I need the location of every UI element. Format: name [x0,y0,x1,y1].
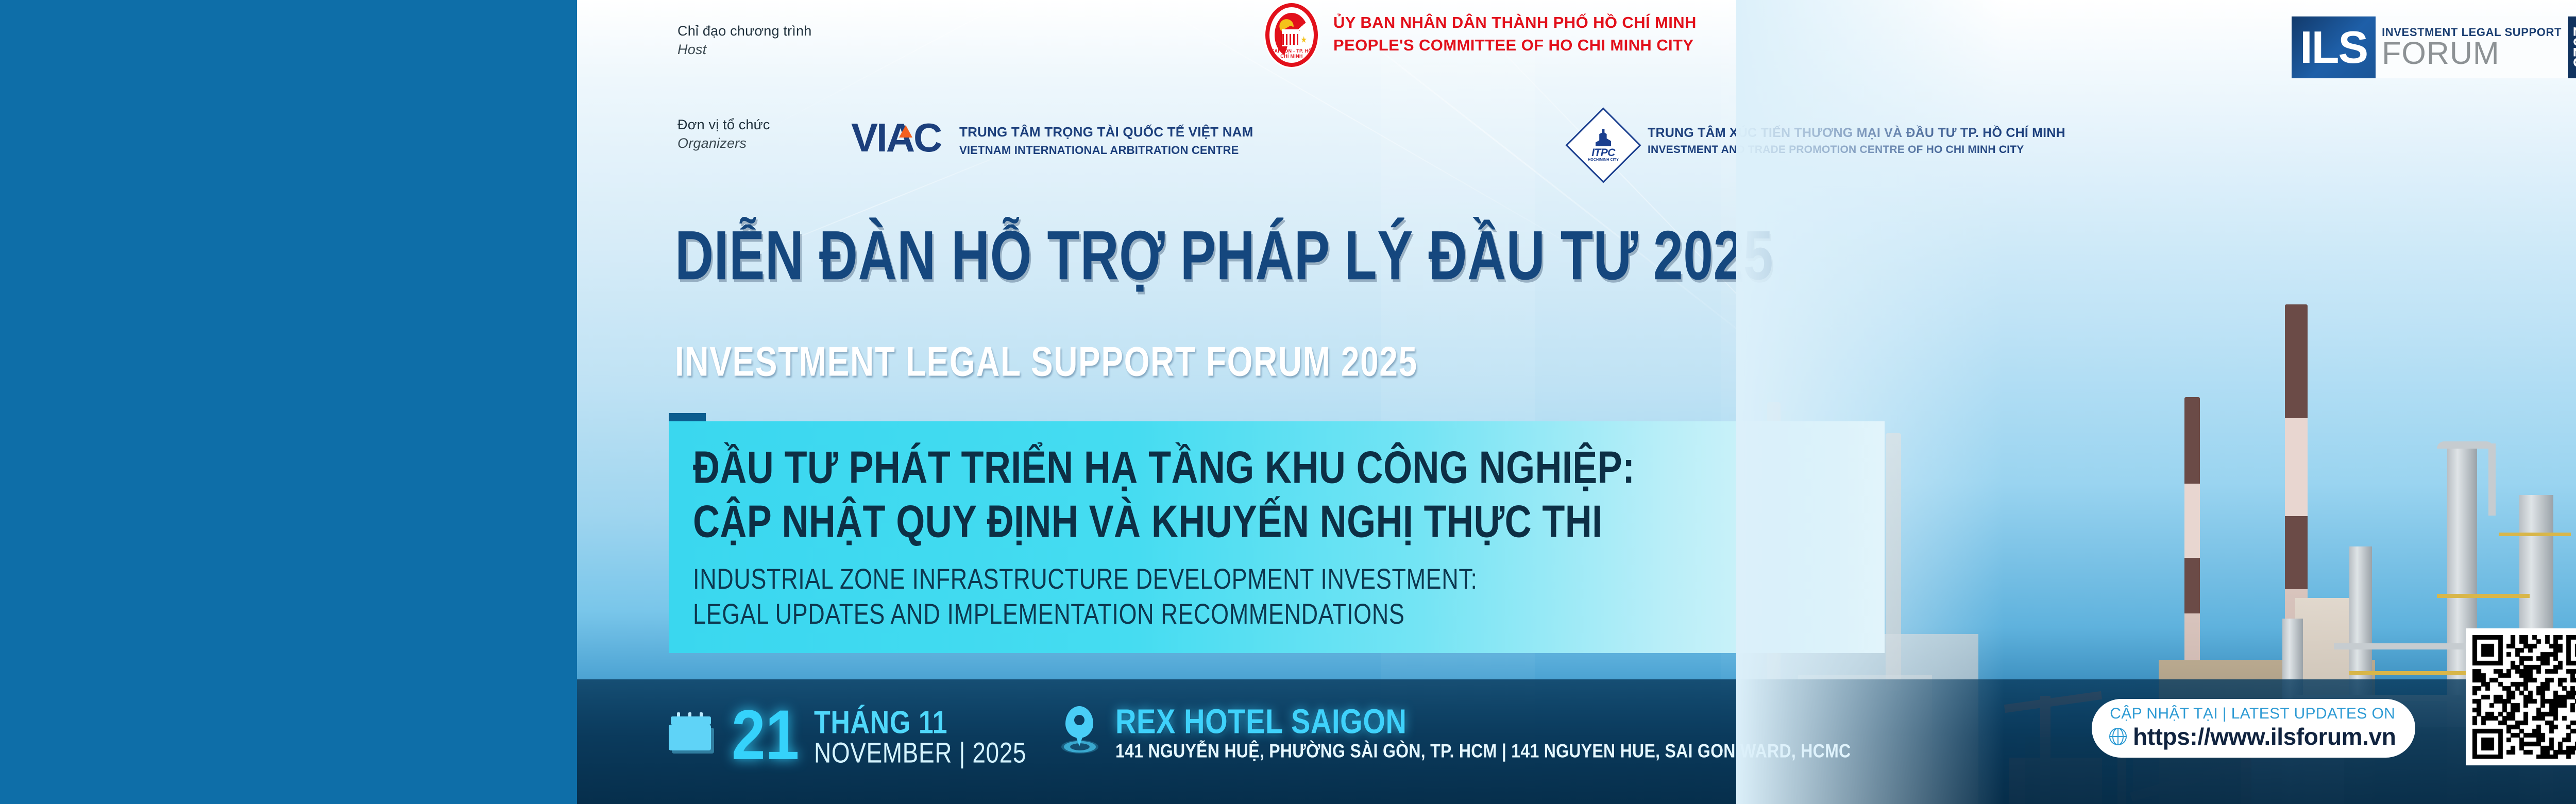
itpc-logo-sub: HOCHIMINH CITY [1588,158,1619,162]
updates-url[interactable]: https://www.ilsforum.vn [2133,723,2396,750]
refinery-platform [2437,594,2530,598]
refinery-platform [2349,671,2483,675]
event-footer: 21 THÁNG 11 NOVEMBER | 2025 REX HOTEL SA… [577,679,2576,804]
viac-name-vn: TRUNG TÂM TRỌNG TÀI QUỐC TẾ VIỆT NAM [959,123,1253,142]
event-month-en-year: NOVEMBER | 2025 [814,736,1026,769]
event-day: 21 [732,700,799,771]
updates-pill[interactable]: CẬP NHẬT TẠI | LATEST UPDATES ON https:/… [2092,699,2415,758]
host-label: Chỉ đạo chương trình Host [677,22,811,59]
ils-forum-word: FORUM [2382,39,2562,69]
host-org-en: PEOPLE'S COMMITTEE OF HO CHI MINH CITY [1333,34,1697,57]
organizers-label-vn-text: Đơn vị tổ chức [677,117,770,132]
ils-year: 2025 [2568,16,2576,78]
globe-icon [2109,728,2127,745]
page-title-vn: DIỄN ĐÀN HỖ TRỢ PHÁP LÝ ĐẦU TƯ 2025 [675,216,1773,296]
ils-forum-logo: ILS INVESTMENT LEGAL SUPPORT FORUM 2025 [2292,16,2576,78]
subtitle-en-line1: INDUSTRIAL ZONE INFRASTRUCTURE DEVELOPME… [693,562,1478,595]
subtitle-vn-line1: ĐẦU TƯ PHÁT TRIỂN HẠ TẦNG KHU CÔNG NGHIỆ… [693,442,1635,493]
hcmc-emblem: SAI GON - TP. HỒ CHÍ MINH [1265,3,1318,67]
page-title-en: INVESTMENT LEGAL SUPPORT FORUM 2025 [675,337,1418,385]
itpc-logo-text: ITPC [1591,147,1615,158]
updates-label: CẬP NHẬT TẠI | LATEST UPDATES ON [2109,705,2396,723]
viac-logo: VIAC [851,117,941,158]
venue-name: REX HOTEL SAIGON [1115,701,1407,741]
location-pin-icon [1061,706,1098,754]
itpc-logo: ITPC HOCHIMINH CITY [1577,118,1630,172]
subtitle-vn-line2: CẬP NHẬT QUY ĐỊNH VÀ KHUYẾN NGHỊ THỰC TH… [693,496,1603,548]
ils-mark: ILS [2292,16,2376,78]
refinery-platform [2499,533,2571,536]
banner-poster: Chỉ đạo chương trình Host SAI GON - TP. … [0,0,2576,804]
host-organization: ỦY BAN NHÂN DÂN THÀNH PHỐ HỒ CHÍ MINH PE… [1333,11,1697,57]
viac-logo-text: VIAC [851,115,941,160]
organizers-label: VIAC Đơn vị tổ chức Organizers [677,116,770,152]
refinery-pipe [2437,441,2494,449]
calendar-icon [669,711,713,752]
host-label-en: Host [677,41,811,59]
viac-name-en: VIETNAM INTERNATIONAL ARBITRATION CENTRE [959,142,1253,159]
photo-left-fade [1736,0,2004,804]
qr-code[interactable] [2466,628,2576,765]
host-label-vn: Chỉ đạo chương trình [677,23,811,39]
left-color-band [0,0,577,804]
viac-name: TRUNG TÂM TRỌNG TÀI QUỐC TẾ VIỆT NAM VIE… [959,123,1253,159]
emblem-caption: SAI GON - TP. HỒ CHÍ MINH [1269,48,1314,59]
subtitle-en-line2: LEGAL UPDATES AND IMPLEMENTATION RECOMME… [693,597,1404,630]
host-org-vn: ỦY BAN NHÂN DÂN THÀNH PHỐ HỒ CHÍ MINH [1333,11,1697,34]
organizers-label-en: Organizers [677,134,770,153]
refinery-pipe [2488,443,2496,516]
itpc-tower-icon [1596,129,1611,146]
